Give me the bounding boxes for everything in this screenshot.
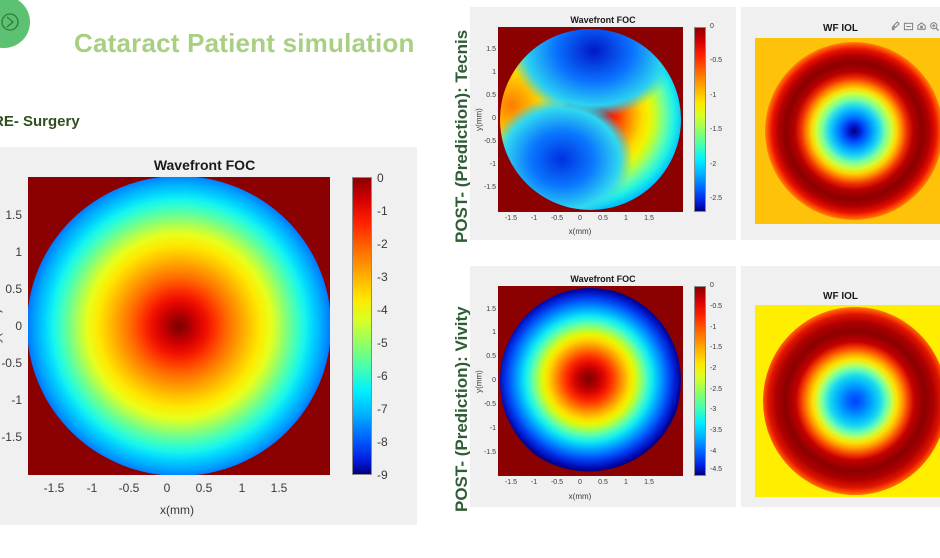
wavefront-plot-area <box>498 286 683 476</box>
y-axis-label: y(mm) <box>475 359 484 405</box>
colorbar-tick: -2.5 <box>710 195 722 202</box>
x-tick: 0 <box>569 479 591 486</box>
colorbar-tick: -1 <box>710 92 716 99</box>
x-axis-label: x(mm) <box>550 227 610 236</box>
colorbar-tick: -3 <box>710 406 716 413</box>
colorbar-tick: -1 <box>710 324 716 331</box>
colorbar-tick: -8 <box>377 435 388 449</box>
x-tick: -0.5 <box>546 215 568 222</box>
colorbar-tick: -2 <box>710 161 716 168</box>
figure-tecnis-wf-iol: WF IOL <box>741 7 940 240</box>
colorbar-tick: -9 <box>377 468 388 482</box>
figure-vivity-wavefront: Wavefront FOC 1.5 1 0.5 0 -0.5 -1 -1.5 -… <box>470 266 736 507</box>
y-tick: 0 <box>0 319 22 333</box>
colorbar <box>352 177 372 475</box>
x-tick: -1.5 <box>500 479 522 486</box>
y-tick: -1.5 <box>0 430 22 444</box>
colorbar-tick: -4 <box>377 303 388 317</box>
x-tick: 0.5 <box>592 215 614 222</box>
x-tick: -1 <box>523 215 545 222</box>
y-tick: 1 <box>476 69 496 76</box>
x-tick: 0.5 <box>592 479 614 486</box>
iol-plot-area <box>755 305 940 497</box>
colorbar-tick: -3 <box>377 270 388 284</box>
row-label-tecnis-lens: Tecnis <box>452 30 471 83</box>
wavefront-disc <box>500 288 681 474</box>
x-tick: 1.5 <box>638 479 660 486</box>
x-tick: 0.5 <box>188 481 220 495</box>
figure-vivity-wf-iol: WF IOL <box>741 266 940 507</box>
x-tick: 0 <box>569 215 591 222</box>
colorbar <box>694 286 706 476</box>
iol-ring-pattern <box>763 307 940 495</box>
page-title: Cataract Patient simulation <box>74 28 415 59</box>
x-tick: -0.5 <box>546 479 568 486</box>
colorbar-tick: -3.5 <box>710 427 722 434</box>
x-tick: 1.5 <box>263 481 295 495</box>
colorbar-tick: -2.5 <box>710 386 722 393</box>
wavefront-plot-area <box>28 177 330 475</box>
colorbar-tick: -5 <box>377 336 388 350</box>
y-tick: -1 <box>0 393 22 407</box>
wavefront-plot-area <box>498 27 683 212</box>
brush-icon[interactable] <box>890 21 901 32</box>
colorbar-tick: -6 <box>377 369 388 383</box>
colorbar <box>694 27 706 212</box>
restore-view-icon[interactable] <box>916 21 927 32</box>
x-tick: 1 <box>615 479 637 486</box>
iol-plot-area <box>755 38 940 224</box>
y-tick: 0.5 <box>0 282 22 296</box>
colorbar-tick: -4.5 <box>710 466 722 473</box>
x-tick: 0 <box>151 481 183 495</box>
y-axis-label: y(mm) <box>475 97 484 143</box>
figure-title: Wavefront FOC <box>0 157 417 173</box>
row-label-vivity-lens: Vivity <box>452 306 471 351</box>
colorbar-tick: -0.5 <box>710 57 722 64</box>
zoom-in-icon[interactable] <box>929 21 940 32</box>
y-tick: -1.5 <box>476 449 496 456</box>
row-label-vivity-prefix: POST- (Prediction): <box>452 351 471 512</box>
colorbar-tick: -4 <box>710 448 716 455</box>
x-tick: -1.5 <box>500 215 522 222</box>
pre-surgery-section-label: RE- Surgery <box>0 113 80 130</box>
y-tick: 1.5 <box>476 306 496 313</box>
iol-ring-pattern <box>765 42 940 220</box>
figure-toolbar[interactable] <box>890 21 940 32</box>
x-tick: -0.5 <box>113 481 145 495</box>
colorbar-tick: -7 <box>377 402 388 416</box>
x-tick: 1 <box>615 215 637 222</box>
x-tick: 1 <box>226 481 258 495</box>
x-tick: -1.5 <box>38 481 70 495</box>
colorbar-tick: 0 <box>377 171 384 185</box>
x-tick: 1.5 <box>638 215 660 222</box>
row-label-tecnis-prefix: POST- (Prediction): <box>452 82 471 243</box>
y-tick: 1.5 <box>0 208 22 222</box>
colorbar-tick: 0 <box>710 282 714 289</box>
y-axis-label: y(mm) <box>0 291 3 361</box>
y-tick: -1 <box>476 161 496 168</box>
figure-title: Wavefront FOC <box>470 15 736 25</box>
y-tick: -1.5 <box>476 184 496 191</box>
colorbar-tick: -0.5 <box>710 303 722 310</box>
figure-tecnis-wavefront: Wavefront FOC 1.5 1 0.5 0 -0.5 -1 -1.5 -… <box>470 7 736 240</box>
y-tick: -1 <box>476 425 496 432</box>
row-label-tecnis: POST- (Prediction): Tecnis <box>452 30 472 243</box>
y-tick: -0.5 <box>0 356 22 370</box>
x-axis-label: x(mm) <box>112 503 242 517</box>
colorbar-tick: 0 <box>710 23 714 30</box>
x-tick: -1 <box>76 481 108 495</box>
y-tick: 1 <box>476 329 496 336</box>
wavefront-disc <box>500 29 681 210</box>
figure-title: Wavefront FOC <box>470 274 736 284</box>
wavefront-disc <box>28 177 330 475</box>
figure-title: WF IOL <box>741 291 940 302</box>
app-logo <box>0 0 30 48</box>
colorbar-tick: -2 <box>710 365 716 372</box>
x-axis-label: x(mm) <box>550 492 610 501</box>
x-tick: -1 <box>523 479 545 486</box>
colorbar-tick: -1.5 <box>710 344 722 351</box>
data-cursor-icon[interactable] <box>903 21 914 32</box>
y-tick: 1 <box>0 245 22 259</box>
logo-glyph-icon <box>0 12 20 32</box>
colorbar-tick: -2 <box>377 237 388 251</box>
colorbar-tick: -1.5 <box>710 126 722 133</box>
row-label-vivity: POST- (Prediction): Vivity <box>452 306 472 512</box>
y-tick: 1.5 <box>476 46 496 53</box>
figure-pre-surgery-wavefront: Wavefront FOC 1.5 1 0.5 0 -0.5 -1 -1.5 -… <box>0 147 417 525</box>
colorbar-tick: -1 <box>377 204 388 218</box>
